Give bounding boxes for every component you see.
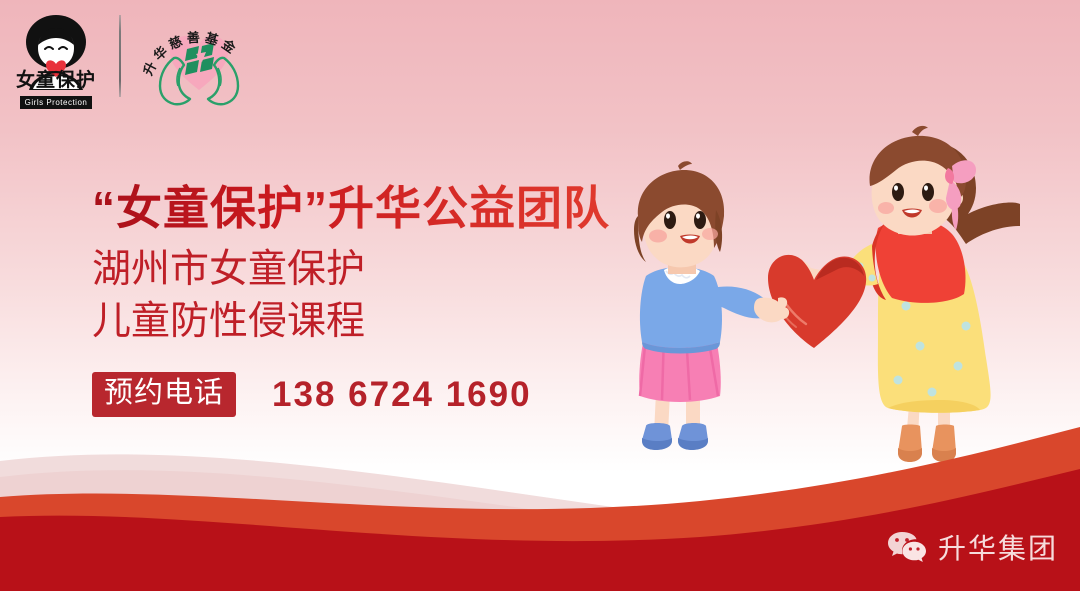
header-divider — [119, 15, 121, 97]
page-title: “女童保护”升华公益团队 — [92, 172, 610, 238]
girl-protection-logo-english: Girls Protection — [20, 96, 93, 109]
wechat-icon — [887, 530, 927, 564]
subtitle-line-1: 湖州市女童保护 — [92, 244, 365, 296]
girl-protection-logo: 女童保护 Girls Protection — [14, 12, 98, 108]
footer-brand[interactable]: 升华集团 — [887, 527, 1058, 567]
subtitle-block: 湖州市女童保护 儿童防性侵课程 — [92, 244, 365, 348]
header-logos: 女童保护 Girls Protection — [0, 0, 1080, 120]
girl-protection-logo-chinese: 女童保护 — [14, 70, 98, 92]
poster-canvas: 女童保护 Girls Protection — [0, 0, 1080, 591]
charity-foundation-logo: 升华慈善基金 — [140, 8, 258, 112]
hands-holding-heart-logo-icon: 升华慈善基金 — [140, 8, 258, 112]
footer-brand-name: 升华集团 — [938, 527, 1058, 567]
